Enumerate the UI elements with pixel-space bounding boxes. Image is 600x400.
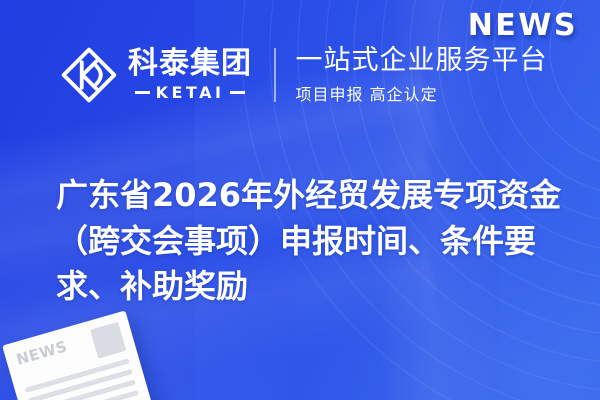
brand-name-cn: 科泰集团 — [128, 48, 252, 80]
slogan-block: 一站式企业服务平台 项目申报 高企认定 — [296, 45, 548, 105]
brand-name-en: KETAI — [156, 83, 225, 102]
newspaper-label: NEWS — [15, 339, 69, 368]
ketai-diamond-k-logo-icon — [60, 46, 118, 104]
news-banner: NEWS 科泰集团 KETAI — [0, 0, 600, 400]
rule-right-icon — [230, 91, 245, 94]
slogan-sub: 项目申报 高企认定 — [296, 81, 548, 105]
brand-logo[interactable]: 科泰集团 KETAI — [60, 46, 252, 104]
slogan-main: 一站式企业服务平台 — [296, 45, 548, 76]
brand-wordmark: 科泰集团 KETAI — [128, 48, 252, 102]
banner-title: 广东省2026年外经贸发展专项资金（跨交会事项）申报时间、条件要求、补助奖励 — [56, 173, 574, 309]
rule-left-icon — [135, 91, 150, 94]
brand-name-en-row: KETAI — [135, 83, 246, 102]
banner-header: 科泰集团 KETAI 一站式企业服务平台 项目申报 高企认定 — [60, 38, 580, 112]
image-placeholder-icon — [90, 322, 126, 359]
header-divider — [274, 48, 276, 102]
